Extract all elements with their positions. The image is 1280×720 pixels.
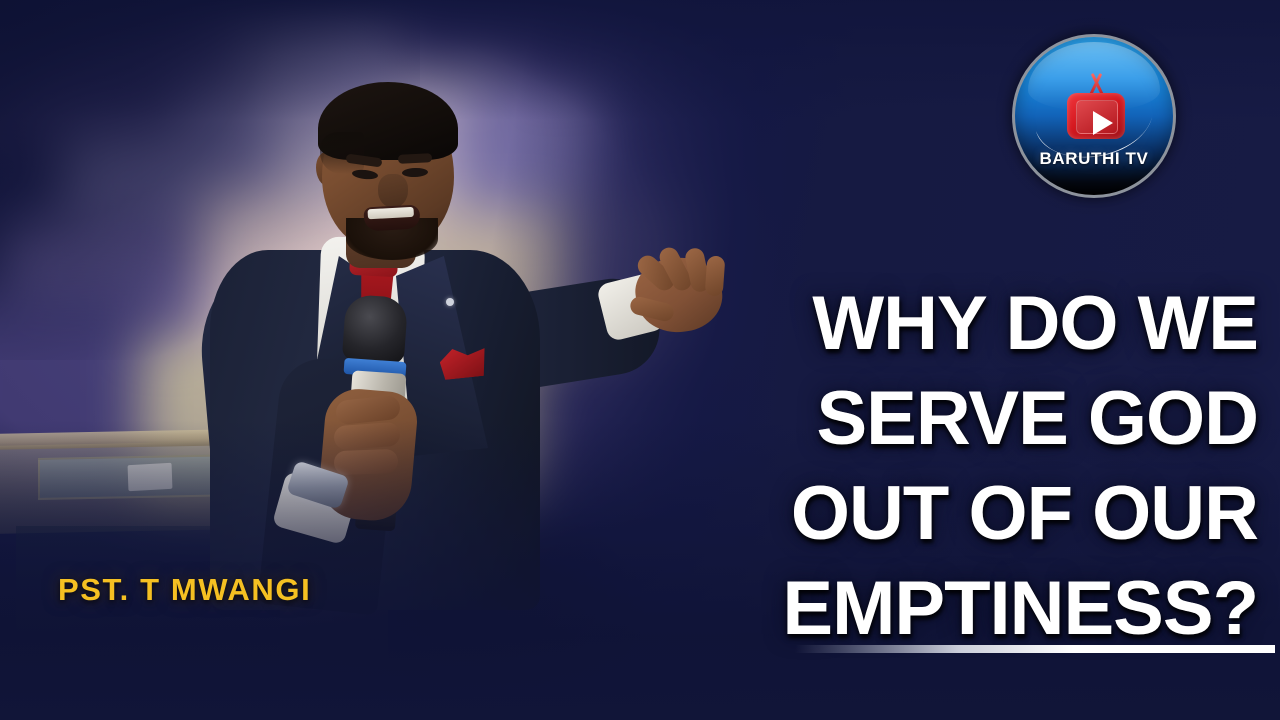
channel-name: BARUTHI TV: [1015, 149, 1173, 169]
microphone-head: [342, 294, 408, 364]
channel-logo[interactable]: BARUTHI TV: [1012, 34, 1176, 198]
title-line-1: WHY DO WE: [638, 276, 1258, 371]
speaker-name-label: PST. T MWANGI: [58, 572, 311, 608]
title-line-4: EMPTINESS?: [638, 561, 1258, 656]
title-block: WHY DO WE SERVE GOD OUT OF OUR EMPTINESS…: [638, 276, 1258, 656]
title-line-3: OUT OF OUR: [638, 466, 1258, 561]
video-thumbnail: WHY DO WE SERVE GOD OUT OF OUR EMPTINESS…: [0, 0, 1280, 720]
title-underline: [795, 645, 1275, 653]
tv-play-icon: [1061, 73, 1131, 143]
title-line-2: SERVE GOD: [638, 371, 1258, 466]
